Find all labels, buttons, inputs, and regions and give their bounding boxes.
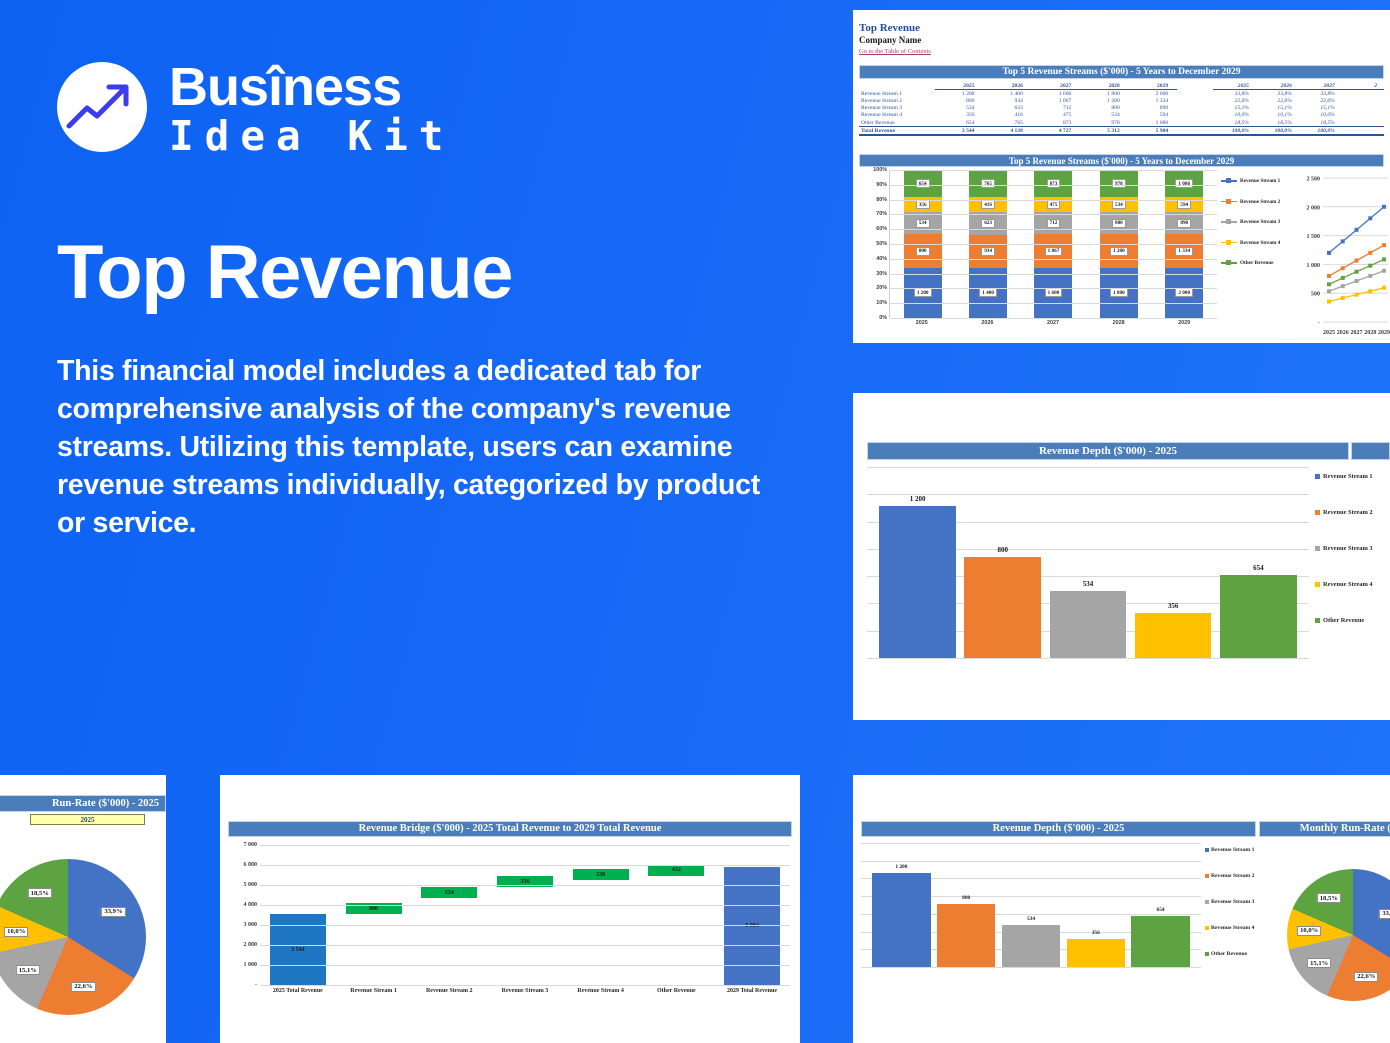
y-tick-label: 0% [879,315,887,321]
legend-marker [1315,474,1320,479]
gridline [890,318,1217,319]
gridline [890,303,1217,304]
x-tick-label: 2028 [1100,320,1138,326]
segment-value-label: 2 000 [1175,288,1193,297]
svg-text:1 500: 1 500 [1307,234,1321,240]
y-tick-label: - [255,982,257,988]
y-tick-label: 60% [876,226,887,232]
bar-column: 800 [937,843,995,967]
legend-label: Revenue Stream 4 [1323,581,1373,588]
gridline [890,229,1217,230]
bar-rect [872,873,930,967]
stacked-segment: 1 800 [1100,268,1138,318]
segment-value-label: 356 [916,200,930,209]
legend-marker [1221,221,1237,223]
svg-text:2029: 2029 [1378,330,1390,336]
segment-value-label: 1 800 [1110,288,1128,297]
bar-rect [1002,925,1060,967]
stacked-segment: 1 400 [969,268,1007,318]
stacked-segment: 1 600 [1034,268,1072,318]
segment-value-label: 1 600 [1045,288,1063,297]
stacked-chart-x-axis: 20252026202720282029 [889,320,1217,326]
gridline [260,925,790,926]
legend-item: Revenue Stream 2 [1221,199,1299,205]
bar-rect [937,904,995,967]
stacked-segment: 890 [1165,212,1203,234]
gridline [260,885,790,886]
segment-value-label: 934 [981,247,995,256]
waterfall-bar: 534 [421,887,477,898]
segment-value-label: 475 [1047,200,1061,209]
monthly-run-rate-pie-right: 33,8%22,6%15,1%10,0%18,5% [1263,835,1390,1035]
pie-slice-label: 18,5% [1317,893,1341,903]
table-header-row: 2025 2026 2027 2028 2029 2025 2026 2027 … [859,82,1384,90]
segment-value-label: 416 [981,200,995,209]
gridline [890,170,1217,171]
gridline [890,288,1217,289]
bar-rect [1220,575,1297,658]
y-tick-label: 3 000 [244,922,258,928]
pie-slice-label: 18,5% [28,888,52,898]
y-tick-label: 10% [876,300,887,306]
gridline [260,985,790,986]
spreadsheet-header: Top Revenue Company Name Go to the Table… [853,10,1390,55]
segment-value-label: 1 400 [979,288,997,297]
value-table-band: Top 5 Revenue Streams ($'000) - 5 Years … [859,65,1384,79]
segment-value-label: 1 200 [914,288,932,297]
bar-value-label: 356 [1092,930,1100,936]
svg-text:500: 500 [1311,292,1320,298]
legend-label: Revenue Stream 3 [1323,545,1373,552]
waterfall-column: 432 [648,845,704,985]
bar-value-label: 356 [1168,602,1179,610]
stacked-segment: 712 [1034,212,1072,234]
bar-column: 356 [1135,467,1212,658]
x-tick-label: 2029 Total Revenue [717,988,787,994]
table-row: Revenue Stream 2 800 934 1 067 1 200 1 3… [859,97,1384,104]
pie-slice-label: 15,1% [16,965,40,975]
legend-label: Revenue Stream 4 [1211,925,1254,931]
y-tick-label: 1 000 [244,962,258,968]
stacked-chart-legend: Revenue Stream 1Revenue Stream 2Revenue … [1221,178,1299,281]
segment-value-label: 534 [916,219,930,228]
legend-label: Other Revenue [1240,260,1273,266]
y-tick-label: 20% [876,285,887,291]
legend-label: Other Revenue [1323,617,1364,624]
legend-marker [1221,262,1237,264]
gridline [260,965,790,966]
revenue-depth-band-right [1351,442,1390,460]
bar-value-label: 1 200 [910,495,926,503]
stacked-segment: 654 [904,170,942,197]
revenue-depth-legend: Revenue Stream 1Revenue Stream 2Revenue … [1315,473,1390,653]
segment-value-label: 534 [1112,200,1126,209]
legend-marker [1315,510,1320,515]
revenue-depth-bar-chart: 1 200800534356654 [867,467,1309,674]
svg-text:-: - [1318,321,1320,327]
gridline [890,214,1217,215]
pie-slice-label: 10,0% [4,927,28,937]
legend-marker [1205,900,1209,904]
segment-value-label: 594 [1177,200,1191,209]
y-tick-label: 4 000 [244,902,258,908]
gridline [260,845,790,846]
bar-column: 654 [1131,843,1189,967]
stacked-segment: 873 [1034,170,1072,197]
gridline [260,865,790,866]
bar-column: 356 [1067,843,1125,967]
bar-rect [879,506,956,658]
legend-item: Revenue Stream 3 [1315,545,1390,552]
segment-value-label: 800 [916,247,930,256]
svg-text:2025: 2025 [1323,330,1335,336]
stacked-segment: 534 [904,212,942,234]
waterfall-column: 800 [346,845,402,985]
stacked-segment: 765 [969,170,1007,197]
svg-text:2026: 2026 [1337,330,1349,336]
bar-value-label: 534 [1027,916,1035,922]
brand-line-1: Busîness [169,60,454,114]
page-title: Top Revenue [57,235,817,311]
stacked-segment: 1 067 [1034,234,1072,267]
y-tick-label: 90% [876,182,887,188]
legend-label: Revenue Stream 1 [1323,473,1373,480]
pie-slice-label: 22,6% [71,982,95,992]
gridline [260,945,790,946]
segment-value-label: 1 067 [1045,247,1063,256]
legend-item: Revenue Stream 1 [1221,178,1299,184]
svg-text:2027: 2027 [1351,330,1363,336]
svg-text:2 000: 2 000 [1307,205,1321,211]
x-tick-label: 2025 [903,320,941,326]
x-tick-label: 2025 Total Revenue [263,988,333,994]
table-total-row: Total Revenue 3 544 4 138 4 727 5 312 5 … [859,127,1384,136]
legend-marker [1221,180,1237,182]
brand-text: Busîness Idea Kit [169,56,454,157]
revenue-bridge-title: Revenue Bridge ($'000) - 2025 Total Reve… [228,821,792,837]
y-tick-label: 5 000 [244,882,258,888]
y-tick-label: 100% [873,167,887,173]
svg-text:2028: 2028 [1364,330,1376,336]
stacked-segment: 934 [969,235,1007,268]
brand-line-2: Idea Kit [169,116,454,157]
waterfall-column: 5 904 [724,845,780,985]
pie-slice-label: 22,6% [1354,972,1378,982]
legend-label: Revenue Stream 4 [1240,240,1280,246]
legend-item: Revenue Stream 1 [1315,473,1390,480]
x-tick-label: Revenue Stream 2 [414,988,484,994]
x-tick-label: Revenue Stream 4 [566,988,636,994]
revenue-bridge-panel: Revenue Bridge ($'000) - 2025 Total Reve… [220,775,800,1043]
bar-column: 654 [1220,467,1297,658]
revenue-depth-small-title: Revenue Depth ($'000) - 2025 [861,821,1256,837]
bar-rect [1131,916,1189,967]
bar-rect [1067,939,1125,967]
bar-value-label: 800 [962,895,970,901]
y-tick-label: 40% [876,256,887,262]
table-row: Revenue Stream 3 534 623 712 800 890 15,… [859,105,1384,112]
y-tick-label: 70% [876,211,887,217]
waterfall-bar: 432 [648,865,704,876]
revenue-bridge-waterfall-chart: 7 0006 0005 0004 0003 0002 0001 000- 3 5… [228,845,794,1005]
revenue-depth-title: Revenue Depth ($'000) - 2025 [867,442,1349,460]
stacked-segment: 623 [969,212,1007,234]
table-row: Other Revenue 654 765 873 978 1 086 18,5… [859,119,1384,127]
chart-band-title: Top 5 Revenue Streams ($'000) - 5 Years … [859,154,1384,167]
y-tick-label: 50% [876,241,887,247]
segment-value-label: 623 [981,219,995,228]
table-row: Revenue Stream 1 1 200 1 400 1 600 1 800… [859,90,1384,98]
bar-column: 534 [1002,843,1060,967]
revenue-streams-table: 2025 2026 2027 2028 2029 2025 2026 2027 … [859,82,1384,136]
y-tick-label: 30% [876,271,887,277]
stacked-segment: 1 334 [1165,234,1203,267]
stacked-segment: 1 086 [1165,170,1203,197]
x-tick-label: 2029 [1165,320,1203,326]
segment-value-label: 765 [981,179,995,188]
bar-value-label: 534 [1083,580,1094,588]
waterfall-x-axis: 2025 Total RevenueRevenue Stream 1Revenu… [260,988,790,994]
y-tick-label: 80% [876,197,887,203]
gridline [890,200,1217,201]
waterfall-y-axis: 7 0006 0005 0004 0003 0002 0001 000- [228,845,260,985]
svg-text:2 500: 2 500 [1307,177,1321,183]
legend-label: Revenue Stream 1 [1211,847,1254,853]
legend-item: Other Revenue [1315,617,1390,624]
y-tick-label: 2 000 [244,942,258,948]
bar-column: 1 200 [879,467,956,658]
bar-rect [964,557,1041,658]
table-of-contents-link[interactable]: Go to the Table of Contents [859,48,1390,55]
table-row: Revenue Stream 4 356 416 475 534 594 10,… [859,112,1384,119]
monthly-run-rate-panel-left: Run-Rate ($'000) - 2025 2025 33,9%22,6%1… [0,775,166,1043]
legend-label: Revenue Stream 3 [1211,899,1254,905]
legend-label: Revenue Stream 1 [1240,178,1280,184]
gridline [861,967,1201,968]
bar-column: 1 200 [872,843,930,967]
x-tick-label: Other Revenue [641,988,711,994]
waterfall-column: 534 [421,845,477,985]
legend-marker [1205,926,1209,930]
logo-circle [57,62,147,152]
y-tick-label: 6 000 [244,862,258,868]
segment-value-label: 978 [1112,179,1126,188]
x-tick-label: Revenue Stream 1 [339,988,409,994]
segment-value-label: 1 200 [1110,247,1128,256]
stacked-bar-chart: 100%90%80%70%60%50%40%30%20%10%0% 654356… [859,170,1219,343]
waterfall-plot: 3 5448005343562384325 904 [260,845,790,985]
bar-column: 534 [1050,467,1127,658]
stacked-segment: 1 200 [904,268,942,318]
waterfall-column: 238 [573,845,629,985]
legend-label: Revenue Stream 2 [1323,509,1373,516]
bar-value-label: 1 200 [895,864,907,870]
segment-value-label: 800 [1112,219,1126,228]
stacked-chart-plot: 6543565348001 2007654166239341 400873475… [889,170,1217,318]
monthly-run-rate-pie-left: 33,9%22,6%15,1%10,0%18,5% [0,775,166,1043]
legend-label: Revenue Stream 2 [1211,873,1254,879]
x-tick-label: Revenue Stream 3 [490,988,560,994]
legend-item: Revenue Stream 4 [1221,240,1299,246]
pie-slice-label: 33,9% [101,907,125,917]
legend-item: Revenue Stream 3 [1221,219,1299,225]
legend-marker [1205,848,1209,852]
stacked-chart-y-axis: 100%90%80%70%60%50%40%30%20%10%0% [859,170,889,318]
spreadsheet-panel: Top Revenue Company Name Go to the Table… [853,10,1390,343]
sheet-company-name: Company Name [859,35,1390,45]
legend-label: Revenue Stream 2 [1240,199,1280,205]
legend-item: Other Revenue [1221,260,1299,266]
segment-value-label: 1 334 [1175,247,1193,256]
bar-value-label: 654 [1253,564,1264,572]
bar-column: 800 [964,467,1041,658]
stacked-segment: 2 000 [1165,268,1203,318]
gridline [260,905,790,906]
gridline [890,244,1217,245]
legend-marker [1205,874,1209,878]
waterfall-column: 356 [497,845,553,985]
segment-value-label: 654 [916,179,930,188]
legend-marker [1221,201,1237,203]
stacked-segment: 800 [1100,212,1138,234]
hero-description: This financial model includes a dedicate… [57,353,767,542]
legend-item: Revenue Stream 4 [1315,581,1390,588]
sheet-title: Top Revenue [859,22,1390,34]
segment-value-label: 712 [1047,219,1061,228]
bar-value-label: 654 [1157,907,1165,913]
revenue-depth-small-bar-chart: 1 200800534356654 [861,843,1201,983]
segment-value-label: 890 [1177,219,1191,228]
legend-label: Other Revenue [1211,951,1247,957]
legend-item: Revenue Stream 2 [1315,509,1390,516]
gridline [890,185,1217,186]
bar-rect [1050,591,1127,659]
hero-section: Busîness Idea Kit Top Revenue This finan… [57,56,817,542]
stacked-segment: 1 200 [1100,234,1138,267]
revenue-depth-and-pie-panel: Revenue Depth ($'000) - 2025 Monthly Run… [853,775,1390,1043]
stacked-segment: 978 [1100,170,1138,197]
segment-value-label: 873 [1047,179,1061,188]
legend-label: Revenue Stream 3 [1240,219,1280,225]
legend-marker [1315,546,1320,551]
pie-slice-label: 10,0% [1297,926,1321,936]
gridline [890,259,1217,260]
y-tick-label: 7 000 [244,842,258,848]
segment-value-label: 1 086 [1175,179,1193,188]
waterfall-column: 3 544 [270,845,326,985]
line-chart: 2 5002 0001 5001 000500-2025202620272028… [1299,170,1390,343]
pie-slice-label: 33,8% [1379,909,1390,919]
brand-lockup: Busîness Idea Kit [57,56,817,157]
bar-value-label: 800 [998,546,1009,554]
gridline [867,658,1309,659]
legend-marker [1221,242,1237,244]
pie-slice-label: 15,1% [1307,958,1331,968]
waterfall-bar: 238 [573,869,629,880]
x-tick-label: 2027 [1034,320,1072,326]
x-tick-label: 2026 [968,320,1006,326]
stacked-segment: 800 [904,234,942,267]
bar-rect [1135,613,1212,658]
svg-text:1 000: 1 000 [1307,263,1321,269]
gridline [890,274,1217,275]
revenue-depth-panel: Revenue Depth ($'000) - 2025 1 200800534… [853,393,1390,720]
legend-marker [1205,952,1209,956]
legend-marker [1315,582,1320,587]
legend-marker [1315,618,1320,623]
